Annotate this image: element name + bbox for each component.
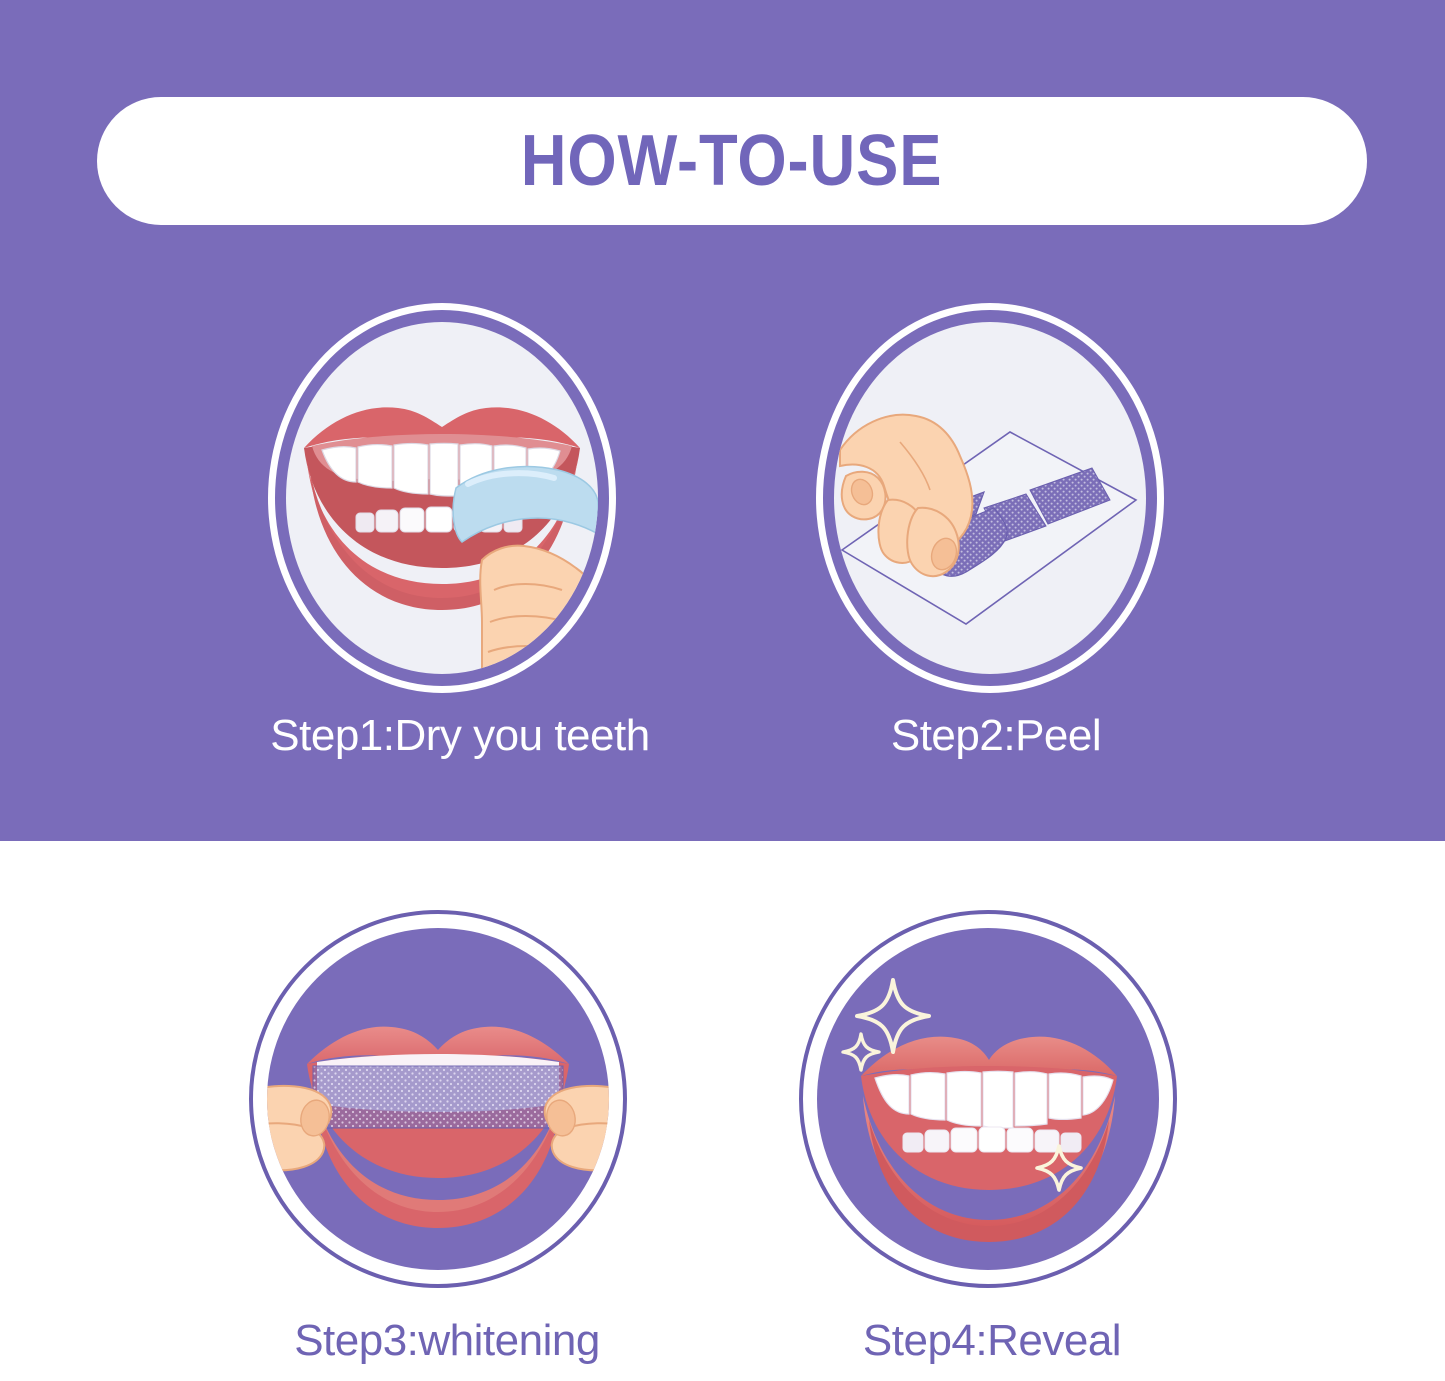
step-card-1: Step1:Dry you teeth xyxy=(242,300,642,700)
step-4-disc xyxy=(817,928,1159,1270)
step-1-caption: Step1:Dry you teeth xyxy=(250,712,670,760)
step-2-illustration xyxy=(790,300,1190,700)
step-4-caption: Step4:Reveal xyxy=(847,1317,1137,1365)
step-card-4: Step4:Reveal xyxy=(787,905,1187,1305)
step-card-2: Step2:Peel xyxy=(790,300,1190,700)
step-2-disc xyxy=(834,322,1146,674)
dry-teeth-icon xyxy=(286,322,598,674)
white-smile-icon xyxy=(817,928,1159,1270)
how-to-use-infographic: HOW-TO-USE xyxy=(0,0,1445,1381)
step-2-caption: Step2:Peel xyxy=(866,712,1126,760)
apply-strip-icon xyxy=(267,928,609,1270)
step-3-illustration xyxy=(237,905,637,1305)
peel-strip-icon xyxy=(834,322,1146,674)
step-card-3: Step3:whitening xyxy=(237,905,637,1305)
step-1-illustration xyxy=(242,300,642,700)
page-title: HOW-TO-USE xyxy=(521,125,943,197)
step-1-disc xyxy=(286,322,598,674)
title-pill: HOW-TO-USE xyxy=(97,97,1367,225)
step-3-disc xyxy=(267,928,609,1270)
step-3-caption: Step3:whitening xyxy=(247,1317,647,1365)
step-4-illustration xyxy=(787,905,1187,1305)
